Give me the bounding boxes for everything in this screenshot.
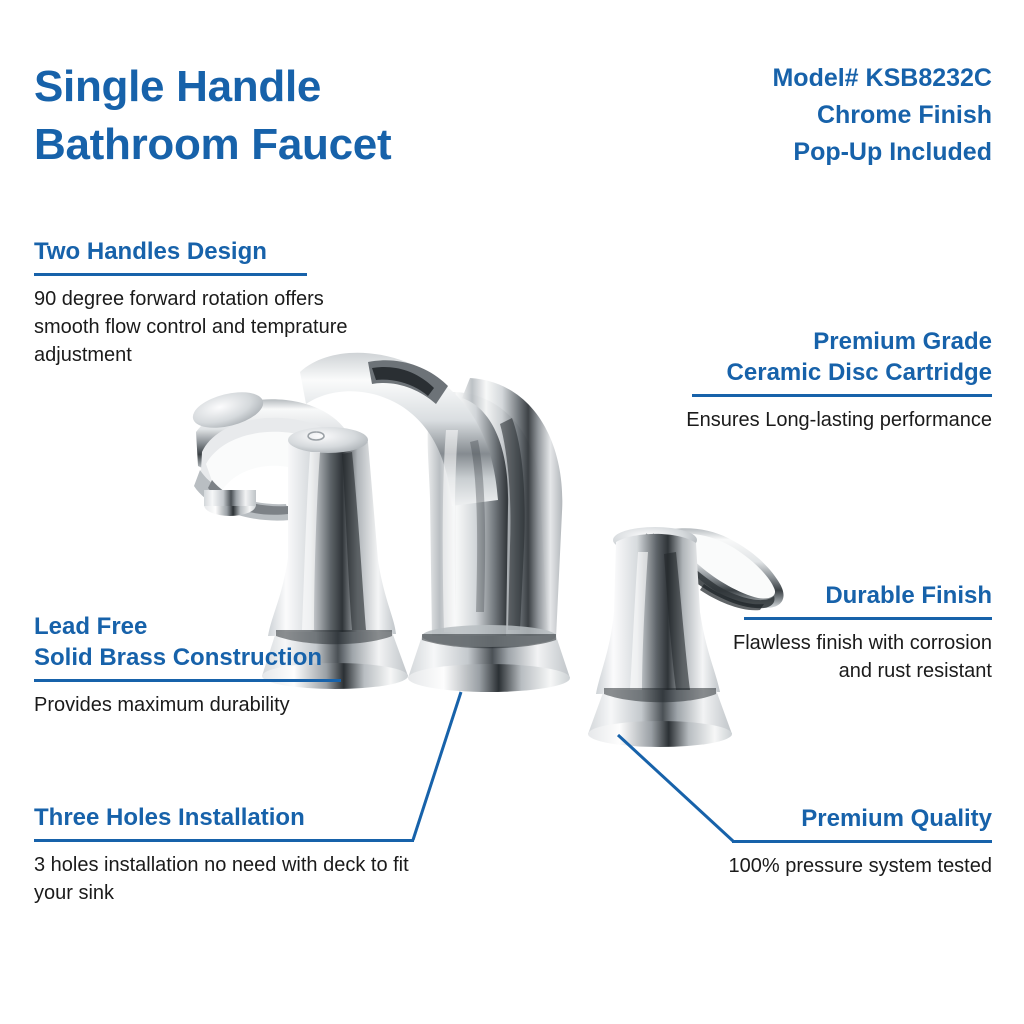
feature-premium-quality: Premium Quality 100% pressure system tes… [692,803,992,880]
feature-heading: Three Holes Installation [34,802,434,833]
popup-label: Pop-Up Included [592,134,992,171]
feature-body: 100% pressure system tested [692,852,992,880]
feature-body: 3 holes installation no need with deck t… [34,851,434,907]
feature-heading: Lead Free Solid Brass Construction [34,611,394,673]
model-number: Model# KSB8232C [592,60,992,97]
feature-durable-finish: Durable Finish Flawless finish with corr… [732,580,992,685]
feature-heading: Premium Grade Ceramic Disc Cartridge [662,326,992,388]
feature-body: Flawless finish with corrosion and rust … [732,629,992,685]
feature-underline [744,617,992,620]
feature-lead-free-solid-brass-construction: Lead Free Solid Brass Construction Provi… [34,611,394,719]
feature-body: Ensures Long-lasting performance [662,406,992,434]
feature-premium-grade-ceramic-disc-cartridge: Premium Grade Ceramic Disc Cartridge Ens… [662,326,992,434]
feature-underline [34,679,341,682]
feature-body: Provides maximum durability [34,691,394,719]
page-title: Single Handle Bathroom Faucet [34,58,554,174]
feature-underline [732,840,992,843]
feature-two-handles-design: Two Handles Design 90 degree forward rot… [34,236,384,369]
page-title-line-1: Single Handle [34,58,554,116]
feature-underline [34,839,414,842]
feature-body: 90 degree forward rotation offers smooth… [34,285,384,369]
feature-heading: Premium Quality [692,803,992,834]
feature-underline [692,394,992,397]
finish-label: Chrome Finish [592,97,992,134]
feature-three-holes-installation: Three Holes Installation 3 holes install… [34,802,434,907]
feature-heading: Durable Finish [732,580,992,611]
model-info-block: Model# KSB8232C Chrome Finish Pop-Up Inc… [592,60,992,171]
feature-heading: Two Handles Design [34,236,384,267]
page-title-line-2: Bathroom Faucet [34,116,554,174]
feature-underline [34,273,307,276]
